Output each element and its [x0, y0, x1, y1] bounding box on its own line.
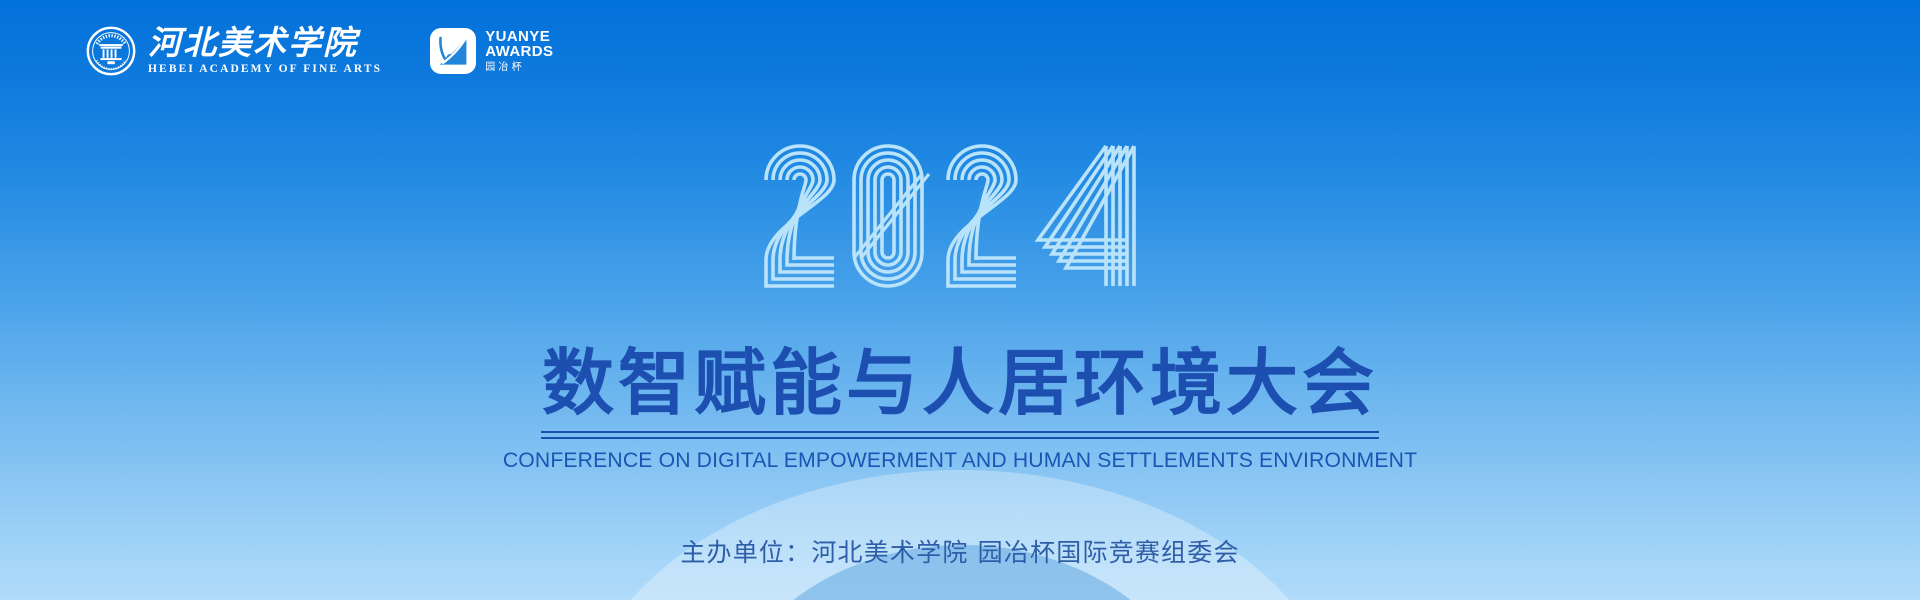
conference-title-cn: 数智赋能与人居环境大会 [0, 345, 1920, 421]
yuanye-awards-line2: AWARDS [485, 44, 553, 59]
year-2024-graphic [760, 140, 1160, 292]
hebei-academy-name-en: HEBEI ACADEMY OF FINE ARTS [148, 64, 382, 76]
logo-hebei-academy: 河北美术学院 HEBEI ACADEMY OF FINE ARTS [86, 26, 382, 76]
hebei-academy-wordmark: 河北美术学院 HEBEI ACADEMY OF FINE ARTS [148, 26, 382, 76]
conference-title-en: CONFERENCE ON DIGITAL EMPOWERMENT AND HU… [14, 448, 1905, 473]
title-divider-line-2 [541, 437, 1379, 439]
university-seal-icon [86, 26, 136, 76]
yuanye-leaf-mark-icon [430, 28, 476, 74]
yuanye-awards-wordmark: YUANYE AWARDS 园冶杯 [485, 29, 553, 73]
yuanye-awards-line1: YUANYE [485, 29, 553, 44]
logo-yuanye-awards: YUANYE AWARDS 园冶杯 [430, 28, 553, 74]
conference-banner: 河北美术学院 HEBEI ACADEMY OF FINE ARTS YUANYE… [0, 0, 1920, 600]
title-divider [541, 431, 1379, 439]
logo-row: 河北美术学院 HEBEI ACADEMY OF FINE ARTS YUANYE… [86, 26, 553, 76]
title-block: 数智赋能与人居环境大会 CONFERENCE ON DIGITAL EMPOWE… [0, 345, 1920, 473]
hebei-academy-name-cn: 河北美术学院 [148, 26, 358, 59]
title-divider-line-1 [541, 431, 1379, 433]
organizer-line: 主办单位：河北美术学院 园冶杯国际竞赛组委会 [0, 533, 1920, 569]
yuanye-awards-name-cn: 园冶杯 [485, 63, 553, 73]
